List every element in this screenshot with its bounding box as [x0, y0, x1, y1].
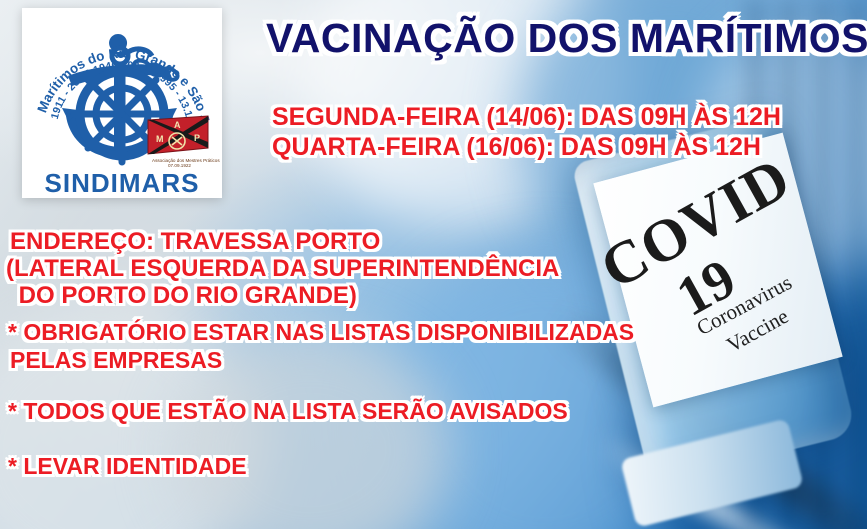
note-line-2: * TODOS QUE ESTÃO NA LISTA SERÃO AVISADO… [8, 400, 568, 423]
schedule-line-1: SEGUNDA-FEIRA (14/06): DAS 09H ÀS 12H [272, 105, 781, 130]
vaccination-poster: COVID 19 Coronavirus Vaccine Sindicato d… [0, 0, 867, 529]
logo-graphic: Sindicato dos Marítimos do Rio Grande e … [22, 8, 222, 198]
logo-wordmark: SINDIMARS [45, 168, 200, 198]
address-line-1: ENDEREÇO: TRAVESSA PORTO [10, 230, 380, 254]
address-line-2: (LATERAL ESQUERDA DA SUPERINTENDÊNCIA [6, 257, 559, 281]
note-line-3: * LEVAR IDENTIDADE [8, 455, 247, 478]
flag-letter-a: A [174, 120, 181, 130]
address-line-3: DO PORTO DO RIO GRANDE) [12, 284, 357, 308]
note-line-1: * OBRIGATÓRIO ESTAR NAS LISTAS DISPONIBI… [8, 321, 634, 344]
page-title: VACINAÇÃO DOS MARÍTIMOS [266, 18, 867, 59]
note-line-1-cont: PELAS EMPRESAS [10, 349, 222, 372]
sindimars-logo: Sindicato dos Marítimos do Rio Grande e … [22, 8, 222, 198]
flag-letter-p: P [194, 133, 200, 143]
flag-icon: M A P Associação dos Mestres Práticos 07… [148, 116, 220, 168]
flag-letter-m: M [156, 134, 164, 144]
schedule-line-2: QUARTA-FEIRA (16/06): DAS 09H ÀS 12H [272, 135, 761, 160]
